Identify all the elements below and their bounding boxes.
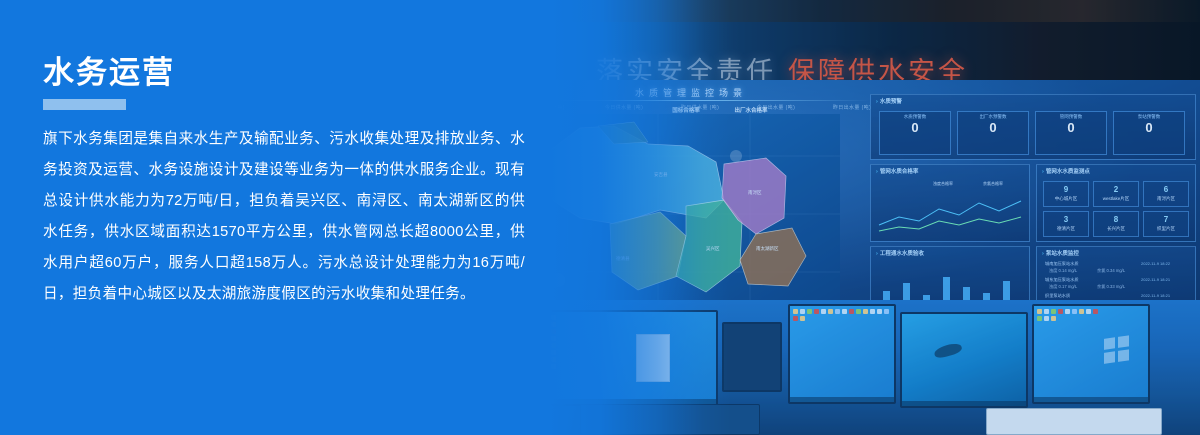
monitor-cell: 6 南浔片区 — [1143, 181, 1189, 207]
panel-title: 泵站水质监控 — [1042, 249, 1079, 257]
monitor-cell: 7 织里片区 — [1143, 211, 1189, 237]
log-row-metric: 浊度 0.17 mg/L — [1049, 284, 1077, 290]
desktop-icon[interactable] — [800, 316, 805, 321]
desktop-icon[interactable] — [1037, 316, 1042, 321]
desktop-icon[interactable] — [856, 309, 861, 314]
map-label: 南太湖新区 — [756, 246, 779, 252]
alarm-card: 水质预警数 0 — [879, 111, 951, 155]
windows-logo-icon — [1104, 335, 1130, 365]
log-row-name: 织里泵站水质 — [1045, 293, 1070, 299]
log-row-time: 2022-11-9 18:21 — [1141, 277, 1170, 282]
alarm-card: 泵站预警数 0 — [1113, 111, 1185, 155]
panel-title: 管网水质合格率 — [876, 167, 918, 175]
map-label: 南浔区 — [748, 190, 762, 196]
log-row-metric: 余氯 0.33 mg/L — [1097, 284, 1125, 290]
monitor-cell: 8 长兴片区 — [1093, 211, 1139, 237]
desktop-icon[interactable] — [870, 309, 875, 314]
desktop-icon[interactable] — [884, 309, 889, 314]
desktop-icon-grid — [1037, 309, 1099, 321]
panel-water-alarm: 水质预警 水质预警数 0 出厂水预警数 0 管网预警数 0 — [870, 94, 1196, 160]
desktop-icon[interactable] — [1044, 316, 1049, 321]
monitor-icons — [788, 304, 896, 404]
desktop-icon[interactable] — [793, 316, 798, 321]
panel-title: 管网水水质监测点 — [1042, 167, 1090, 175]
panel-qualify-rate: 管网水质合格率 浊度合格率 余氯合格率 — [870, 164, 1030, 242]
desktop-icon[interactable] — [1086, 309, 1091, 314]
monitor-cell: 9 中心城片区 — [1043, 181, 1089, 207]
desktop-icon[interactable] — [814, 309, 819, 314]
desktop-icon[interactable] — [849, 309, 854, 314]
desktop-icon[interactable] — [1093, 309, 1098, 314]
panel-title: 工程通水水质验收 — [876, 249, 924, 257]
log-row-metric: 余氯 0.34 mg/L — [1097, 268, 1125, 274]
monitor-windows — [1032, 304, 1150, 404]
log-row-name: 城南加压泵站水质 — [1045, 261, 1079, 267]
desktop-icon-grid — [793, 309, 889, 321]
desktop-icon[interactable] — [1079, 309, 1084, 314]
monitor-cell: 2 westlake片区 — [1093, 181, 1139, 207]
desktop-icon[interactable] — [1058, 309, 1063, 314]
desktop-icon[interactable] — [1051, 309, 1056, 314]
desktop-icon[interactable] — [863, 309, 868, 314]
legend-item: 余氯合格率 — [983, 181, 1003, 187]
monitor-angled — [722, 322, 782, 392]
desktop-icon[interactable] — [1051, 316, 1056, 321]
taskbar — [790, 397, 894, 402]
desktop-icon[interactable] — [800, 309, 805, 314]
taskbar — [1034, 397, 1148, 402]
desktop-icon[interactable] — [807, 309, 812, 314]
desktop-icon[interactable] — [828, 309, 833, 314]
description-paragraph: 旗下水务集团是集自来水生产及输配业务、污水收集处理及排放业务、水务投资及运营、水… — [43, 124, 525, 310]
desktop-icon[interactable] — [1065, 309, 1070, 314]
alarm-card: 管网预警数 0 — [1035, 111, 1107, 155]
log-row-metric: 浊度 0.14 mg/L — [1049, 268, 1077, 274]
alarm-card: 出厂水预警数 0 — [957, 111, 1029, 155]
log-row-time: 2022-11-9 18:21 — [1141, 293, 1170, 298]
desktop-icon[interactable] — [1037, 309, 1042, 314]
log-row-time: 2022-11-9 18:22 — [1141, 261, 1170, 266]
monitor-screen — [902, 314, 1026, 406]
desktop-icon[interactable] — [835, 309, 840, 314]
panel-monitor-points: 管网水水质监测点 9 中心城片区 2 westlake片区 6 南浔片区 — [1036, 164, 1196, 242]
qualify-rate-chart — [877, 191, 1025, 237]
control-room-photo: 落实安全责任 保障供水安全 水质管理监控场景 年累计水量 (万吨) 今日供水量 … — [470, 0, 1200, 435]
desktop-icon[interactable] — [793, 309, 798, 314]
desktop-icon[interactable] — [842, 309, 847, 314]
taskbar — [902, 401, 1026, 406]
panel-title: 水质预警 — [876, 97, 902, 105]
monitor-cell: 3 德清片区 — [1043, 211, 1089, 237]
monitor-sea — [900, 312, 1028, 408]
text-column: 水务运营 旗下水务集团是集自来水生产及输配业务、污水收集处理及排放业务、水务投资… — [0, 0, 560, 435]
desktop-icon[interactable] — [877, 309, 882, 314]
document-sheet — [986, 408, 1162, 435]
desktop-icon[interactable] — [1072, 309, 1077, 314]
title-underline-bar — [43, 99, 126, 110]
desktop-icon[interactable] — [821, 309, 826, 314]
water-operations-banner: 落实安全责任 保障供水安全 水质管理监控场景 年累计水量 (万吨) 今日供水量 … — [0, 0, 1200, 435]
desktop-icon[interactable] — [1044, 309, 1049, 314]
log-row-name: 城东加压泵站水质 — [1045, 277, 1079, 283]
dashboard-right-panels: 水质预警 水质预警数 0 出厂水预警数 0 管网预警数 0 — [870, 86, 1200, 320]
page-title: 水务运营 — [43, 54, 175, 92]
legend-item: 浊度合格率 — [933, 181, 953, 187]
